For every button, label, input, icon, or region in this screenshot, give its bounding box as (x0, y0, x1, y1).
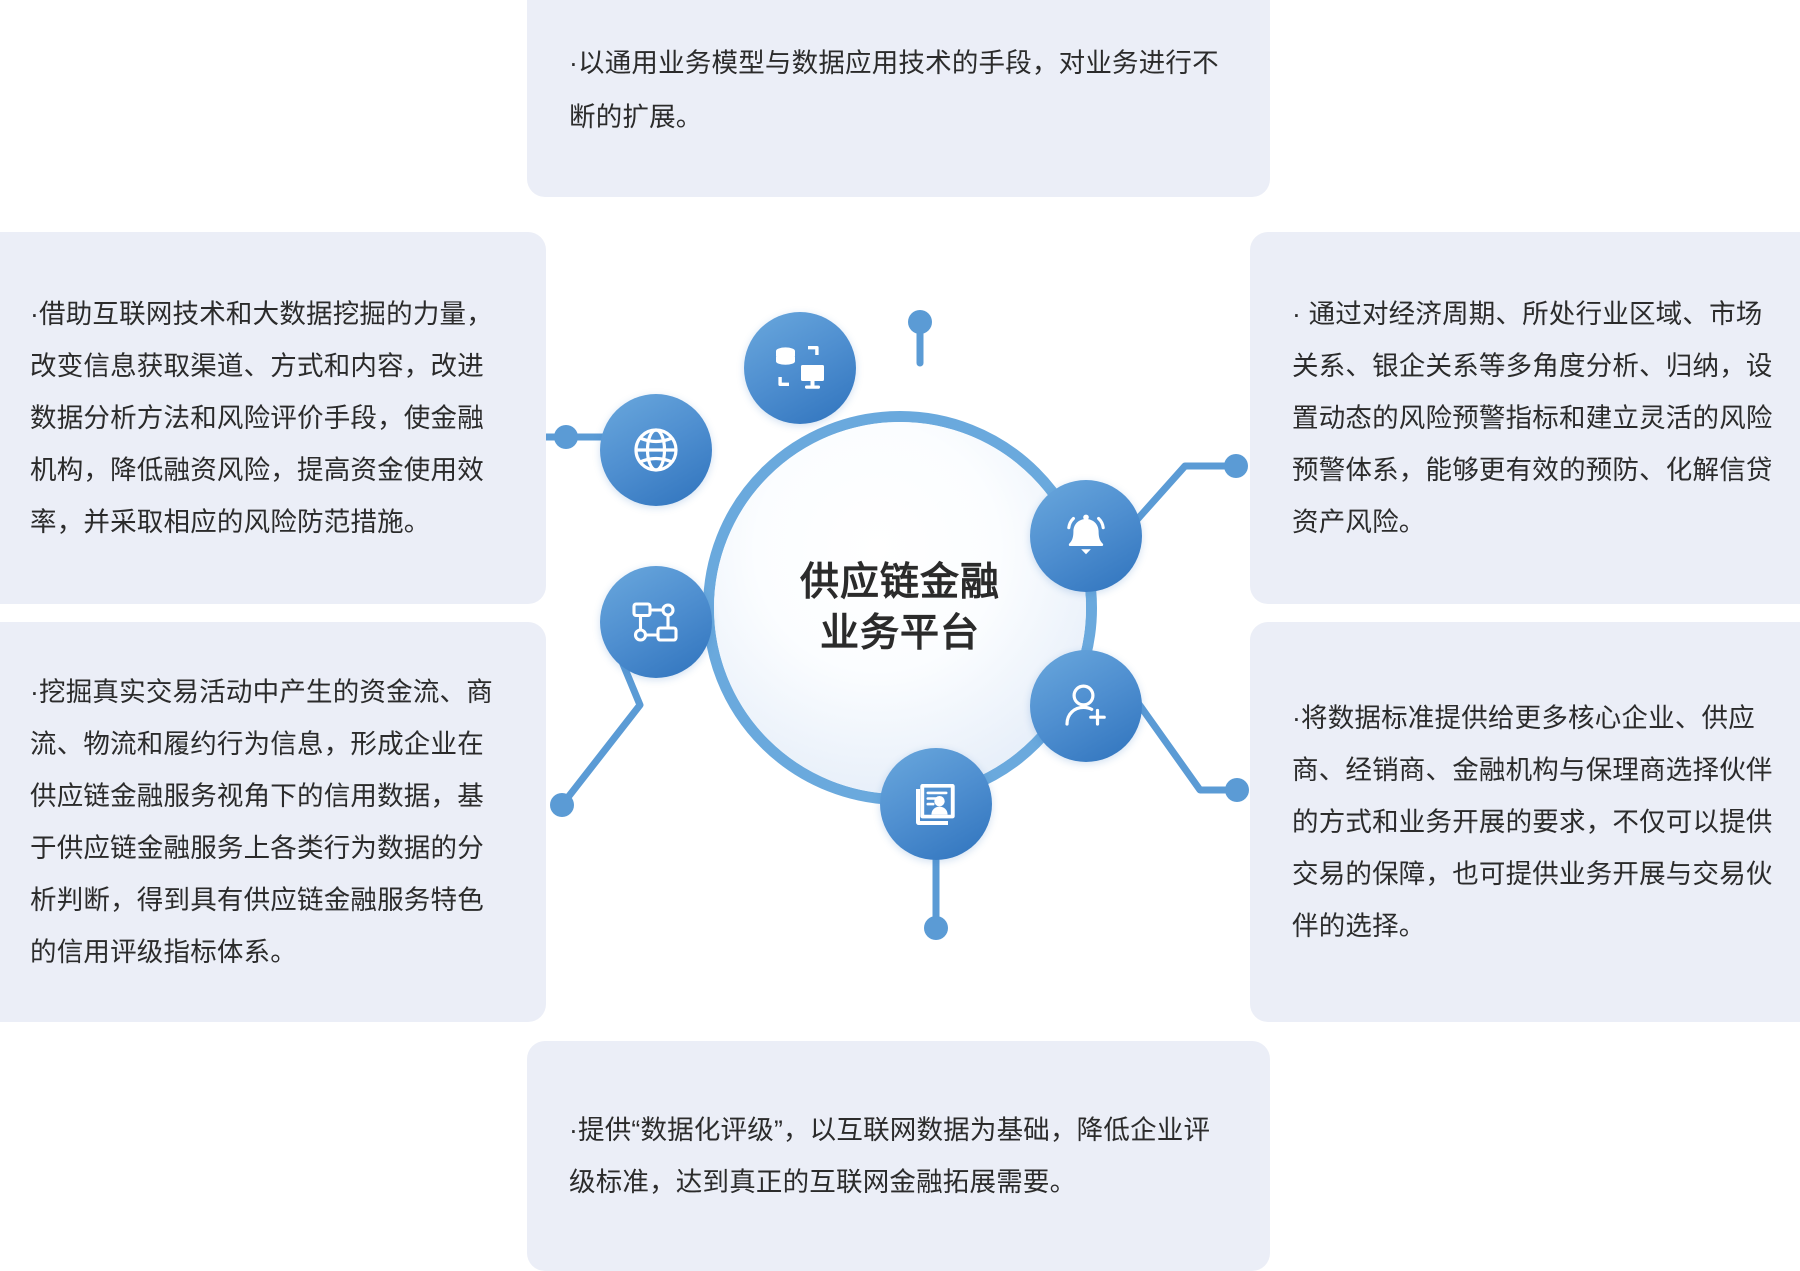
hub-title: 供应链金融 业务平台 (703, 411, 1097, 805)
node-bell[interactable] (1030, 480, 1142, 592)
card-bottom-text: ·提供“数据化评级”，以互联网数据为基础，降低企业评级标准，达到真正的互联网金融… (569, 1104, 1228, 1208)
card-right-bottom-text: ·将数据标准提供给更多核心企业、供应商、经销商、金融机构与保理商选择伙伴的方式和… (1292, 692, 1786, 952)
dot-left-top (554, 425, 578, 449)
card-left-bottom: ·挖掘真实交易活动中产生的资金流、商流、物流和履约行为信息，形成企业在供应链金融… (0, 622, 546, 1022)
card-right-bottom: ·将数据标准提供给更多核心企业、供应商、经销商、金融机构与保理商选择伙伴的方式和… (1250, 622, 1800, 1022)
hub-title-line2: 业务平台 (820, 608, 980, 659)
dot-left-bottom (550, 793, 574, 817)
card-right-top-text: · 通过对经济周期、所处行业区域、市场关系、银企关系等多角度分析、归纳，设置动态… (1292, 288, 1786, 548)
node-database-monitor[interactable] (744, 312, 856, 424)
user-plus-icon (1059, 679, 1113, 733)
dot-right-bottom (1225, 778, 1249, 802)
wire-right-top (1135, 466, 1236, 522)
dot-bottom (924, 916, 948, 940)
card-right-top: · 通过对经济周期、所处行业区域、市场关系、银企关系等多角度分析、归纳，设置动态… (1250, 232, 1800, 604)
dot-top (908, 310, 932, 334)
card-left-top: ·借助互联网技术和大数据挖掘的力量，改变信息获取渠道、方式和内容，改进数据分析方… (0, 232, 546, 604)
database-monitor-icon (772, 342, 828, 394)
network-flow-icon (628, 596, 684, 648)
node-globe[interactable] (600, 394, 712, 506)
dot-right-top (1224, 454, 1248, 478)
node-id-card[interactable] (880, 748, 992, 860)
card-left-bottom-text: ·挖掘真实交易活动中产生的资金流、商流、物流和履约行为信息，形成企业在供应链金融… (30, 666, 496, 978)
node-user-plus[interactable] (1030, 650, 1142, 762)
card-top: ·以通用业务模型与数据应用技术的手段，对业务进行不断的扩展。 (527, 0, 1270, 197)
hub-title-line1: 供应链金融 (800, 557, 1000, 608)
card-bottom: ·提供“数据化评级”，以互联网数据为基础，降低企业评级标准，达到真正的互联网金融… (527, 1041, 1270, 1271)
wire-right-bottom (1136, 700, 1237, 790)
card-top-text: ·以通用业务模型与数据应用技术的手段，对业务进行不断的扩展。 (569, 36, 1228, 144)
id-card-icon (909, 777, 963, 831)
node-network-flow[interactable] (600, 566, 712, 678)
globe-icon (630, 424, 682, 476)
hub: 供应链金融 业务平台 (703, 411, 1097, 805)
diagram-stage: 供应链金融 业务平台 (0, 0, 1800, 1259)
card-left-top-text: ·借助互联网技术和大数据挖掘的力量，改变信息获取渠道、方式和内容，改进数据分析方… (30, 288, 496, 548)
bell-icon (1059, 509, 1113, 563)
